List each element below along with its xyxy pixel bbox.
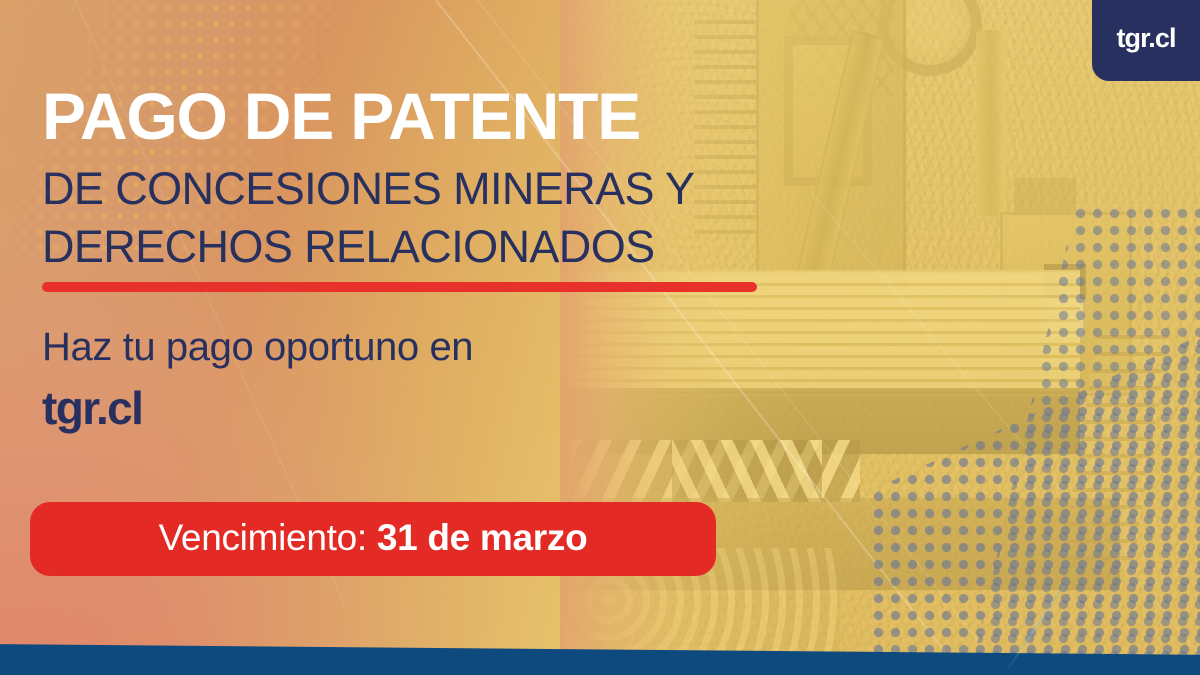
deadline-label: Vencimiento: [159,517,367,558]
deadline-date: 31 de marzo [377,517,588,558]
headline-secondary-line-1: DE CONCESIONES MINERAS Y [42,166,694,211]
headline-secondary-line-2: DERECHOS RELACIONADOS [42,224,655,269]
cta-brand-tgr-cl[interactable]: tgr.cl [42,385,142,431]
cta-tagline: Haz tu pago oportuno en [42,327,473,367]
headline-primary: PAGO DE PATENTE [42,83,640,149]
promotional-banner: tgr.cl PAGO DE PATENTE DE CONCESIONES MI… [0,0,1200,675]
tgr-logo-text: tgr.cl [1116,23,1175,54]
tgr-logo-badge[interactable]: tgr.cl [1092,0,1200,81]
deadline-text: Vencimiento: 31 de marzo [159,517,588,559]
deadline-badge: Vencimiento: 31 de marzo [30,502,716,576]
red-rule-divider [42,282,757,292]
